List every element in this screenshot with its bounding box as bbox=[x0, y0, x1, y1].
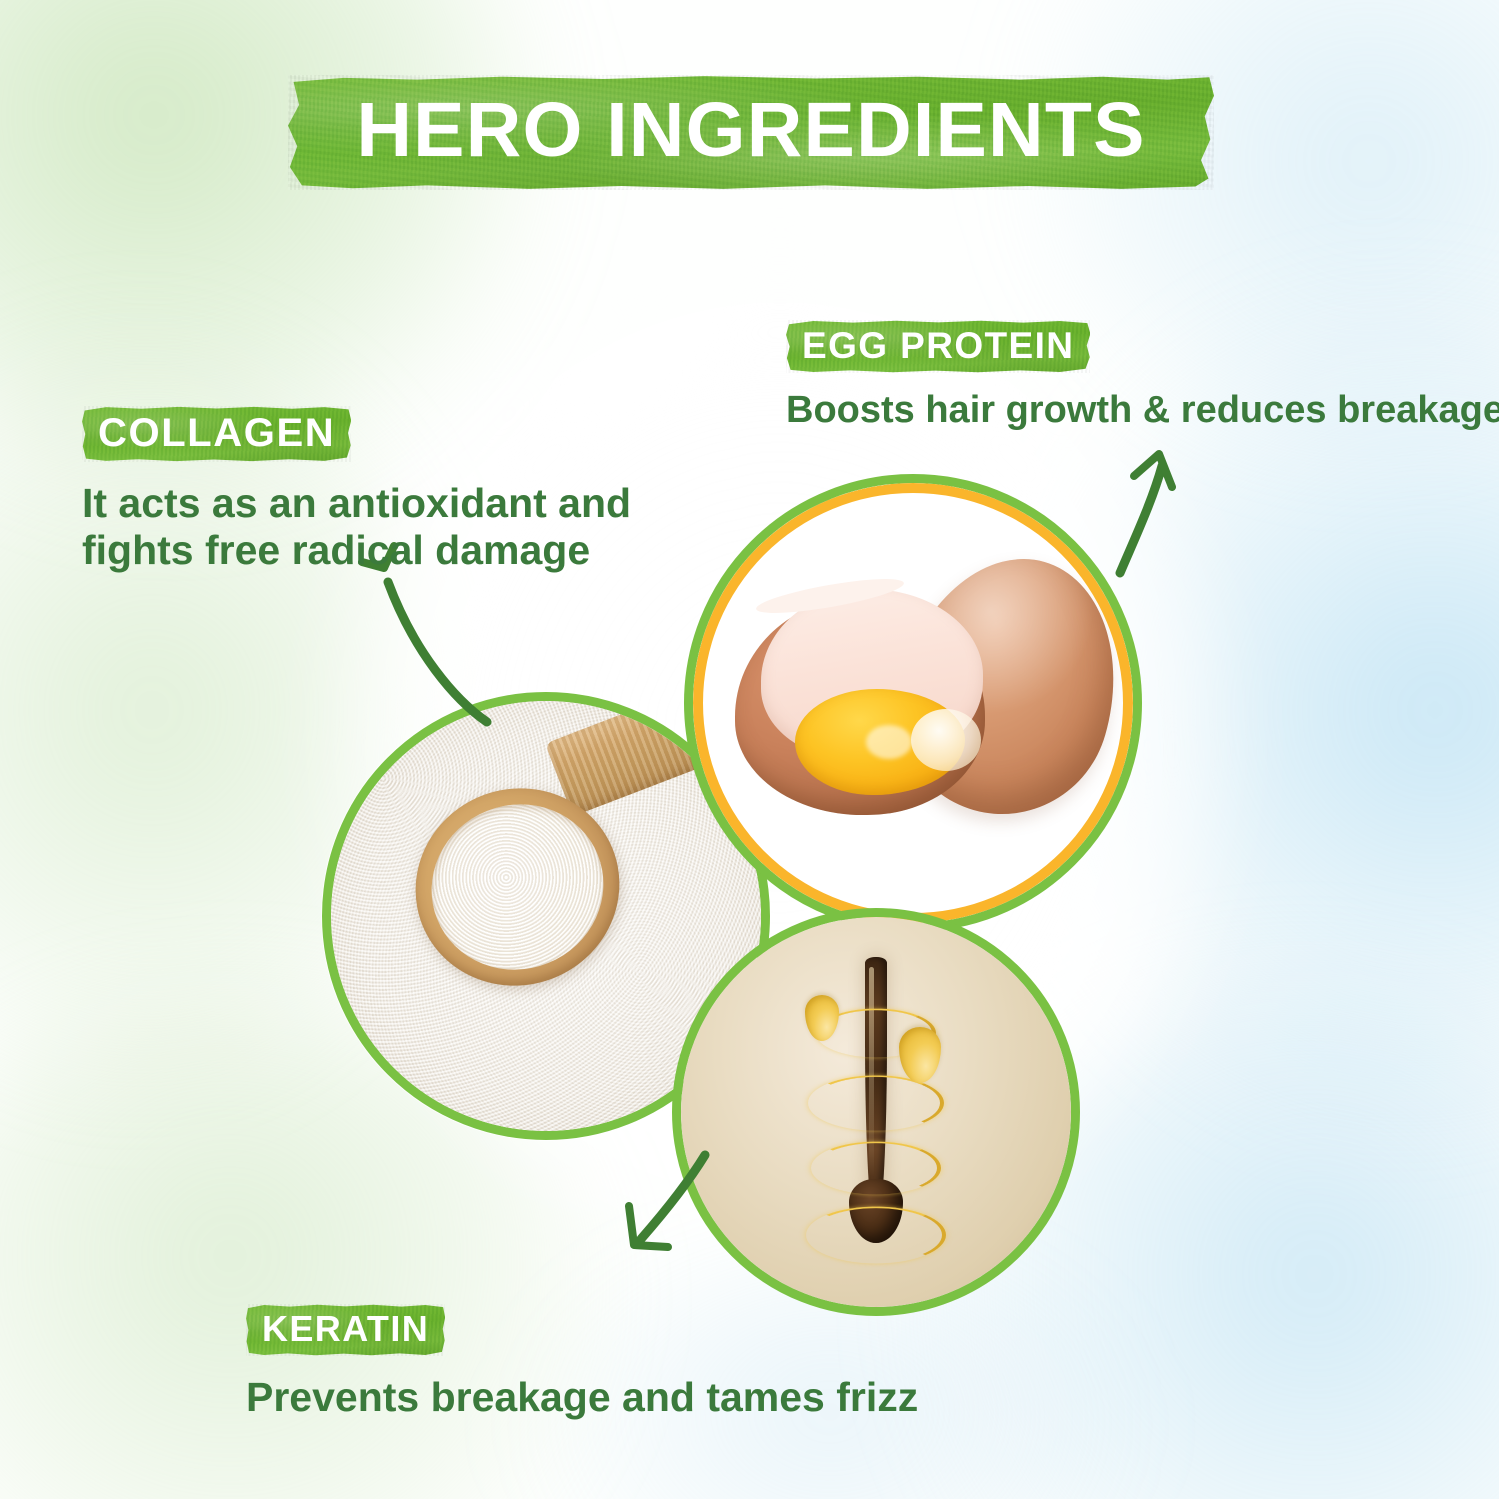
collagen-label-badge: COLLAGEN bbox=[82, 406, 351, 462]
oil-coil-4 bbox=[806, 1207, 946, 1264]
keratin-description-line-1: Prevents breakage and tames frizz bbox=[246, 1374, 946, 1421]
collagen-label: COLLAGEN bbox=[98, 411, 335, 455]
egg-circle-amber-ring bbox=[693, 483, 1133, 923]
keratin-label: KERATIN bbox=[262, 1308, 429, 1349]
egg-protein-label-badge: EGG PROTEIN bbox=[786, 320, 1090, 373]
egg-protein-description-line-1: Boosts hair growth & reduces breakage bbox=[786, 389, 1486, 433]
keratin-text-block: KERATIN Prevents breakage and tames friz… bbox=[246, 1304, 946, 1421]
page-title-banner: HERO INGREDIENTS bbox=[288, 75, 1214, 190]
oil-coil-2 bbox=[808, 1075, 944, 1130]
collagen-text-block: COLLAGEN It acts as an antioxidant and f… bbox=[82, 406, 642, 574]
collagen-description: It acts as an antioxidant and fights fre… bbox=[82, 480, 642, 574]
page-title: HERO INGREDIENTS bbox=[288, 75, 1214, 190]
egg-protein-description: Boosts hair growth & reduces breakage bbox=[786, 389, 1486, 433]
egg-protein-text-block: EGG PROTEIN Boosts hair growth & reduces… bbox=[786, 320, 1486, 433]
hair-oil-illustration bbox=[681, 917, 1071, 1307]
keratin-label-badge: KERATIN bbox=[246, 1304, 445, 1356]
egg-protein-label: EGG PROTEIN bbox=[802, 325, 1074, 366]
egg-protein-image-circle bbox=[684, 474, 1142, 932]
collagen-description-line-1: It acts as an antioxidant and bbox=[82, 480, 642, 527]
keratin-description: Prevents breakage and tames frizz bbox=[246, 1374, 946, 1421]
oil-droplet-2 bbox=[899, 1027, 941, 1083]
keratin-image-circle bbox=[672, 908, 1080, 1316]
collagen-description-line-2: fights free radical damage bbox=[82, 527, 642, 574]
oil-coil-3 bbox=[811, 1142, 941, 1195]
